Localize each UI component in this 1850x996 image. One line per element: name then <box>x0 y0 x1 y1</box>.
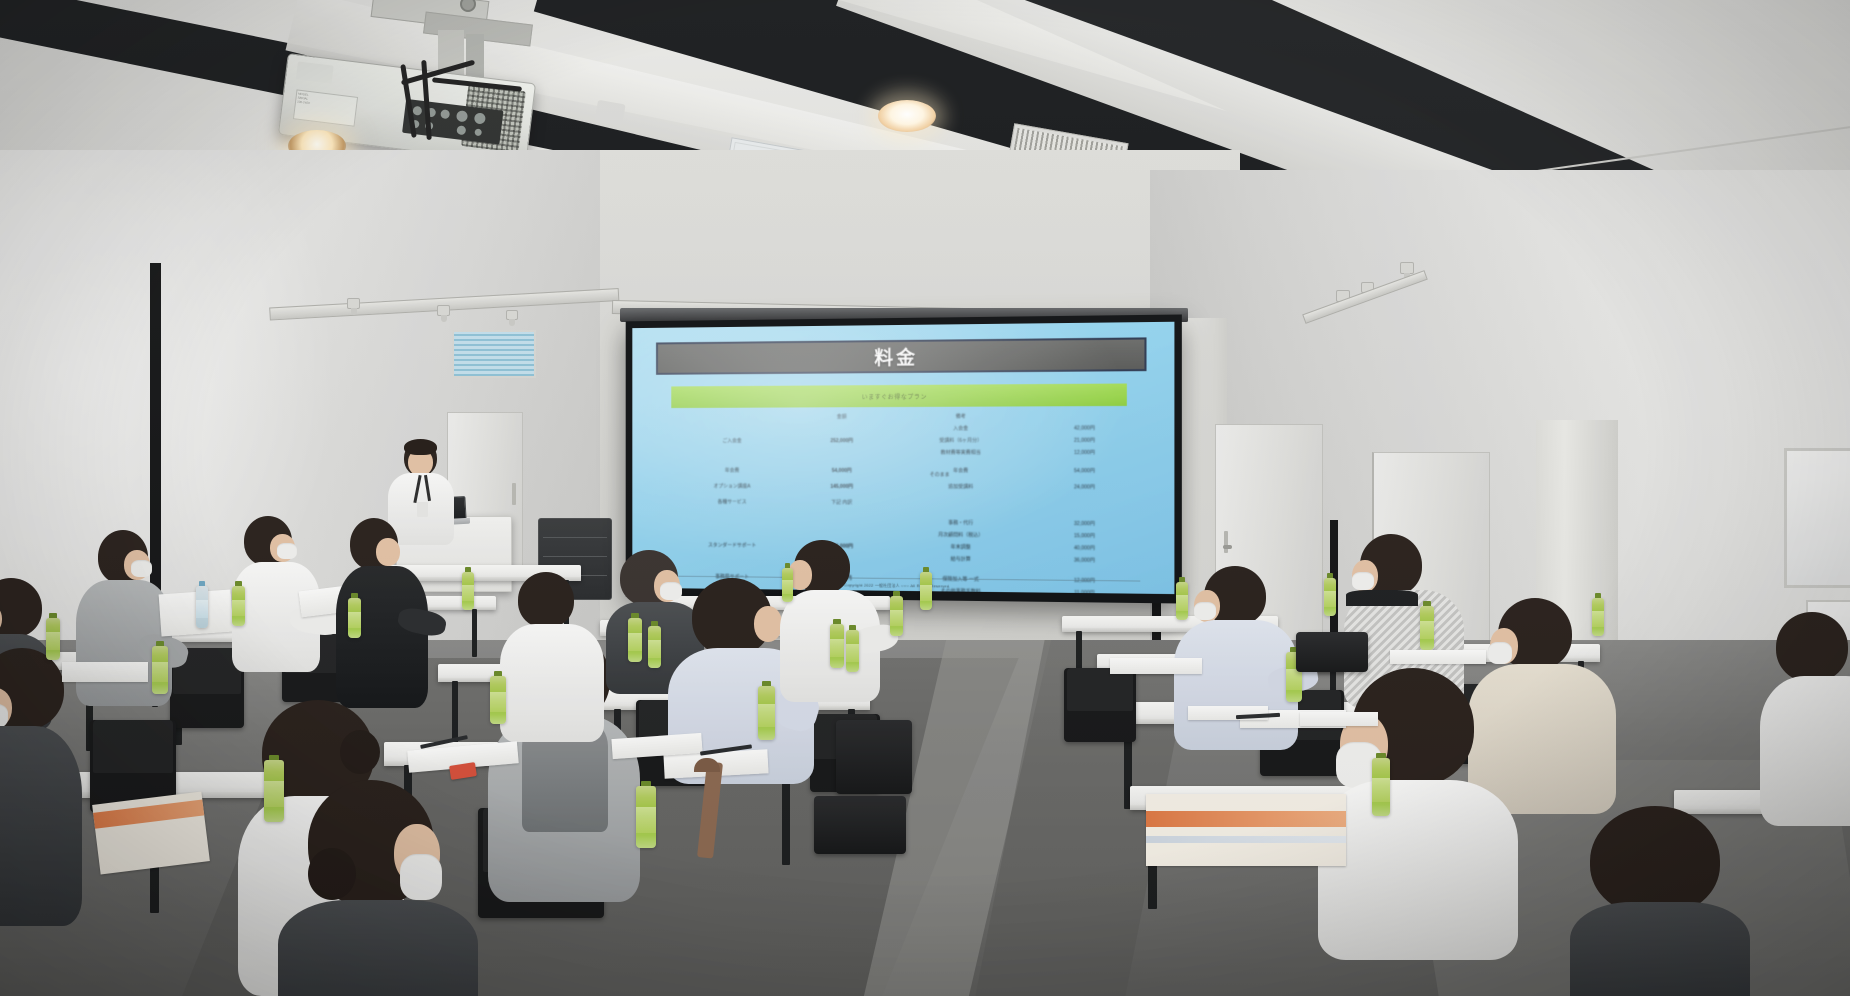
cell-sub: 42,000円 <box>1032 424 1138 431</box>
green-tea-bottle <box>846 630 859 672</box>
green-tea-bottle <box>628 618 642 662</box>
booklet <box>1146 794 1346 866</box>
wall-window-blind <box>452 330 536 378</box>
attendee-body <box>1570 902 1750 996</box>
green-tea-bottle <box>890 596 903 636</box>
face-mask <box>660 582 682 600</box>
projector-mount-arm <box>466 34 484 78</box>
presenter-badge <box>417 502 428 517</box>
green-tea-bottle <box>490 676 506 724</box>
ceiling-downlight <box>878 100 936 132</box>
projector-spec-label: MODELSERIAL100-240V <box>293 89 358 126</box>
water-bottle <box>196 586 208 628</box>
hair-bun <box>340 730 380 774</box>
track-spotlight <box>347 298 360 309</box>
track-spotlight <box>1400 262 1414 274</box>
green-tea-bottle <box>1420 606 1434 650</box>
ceiling-speaker <box>594 100 625 127</box>
face-mask <box>400 854 442 900</box>
slide-projection-glare <box>632 322 1174 594</box>
attendee-body <box>1318 780 1518 960</box>
table-leg <box>472 609 477 657</box>
cell-note: 年会費 <box>890 467 1031 474</box>
handout <box>1110 658 1202 674</box>
cell-sub: 32,000円 <box>1032 519 1138 527</box>
slide-col-note: 備考 <box>890 412 1031 420</box>
cell-note: 入会金 <box>890 424 1031 431</box>
track-spotlight <box>506 310 518 320</box>
track-spotlight <box>437 305 450 316</box>
green-tea-bottle <box>1176 582 1188 620</box>
green-tea-bottle <box>1372 758 1390 816</box>
cell-note: 受講料（6ヶ月分） <box>890 437 1031 444</box>
cell-sub: 12,000円 <box>1032 449 1138 456</box>
cell-note: 教材費等実費相当 <box>890 449 1031 456</box>
face-mask <box>1488 642 1512 664</box>
cell-note: その他事務手数料 <box>890 587 1031 595</box>
cell-note: 保険加入等 一式 <box>890 575 1031 584</box>
attendee-face <box>376 538 400 566</box>
green-tea-bottle <box>1592 598 1604 636</box>
attendee-head <box>1776 612 1848 682</box>
green-tea-bottle <box>46 618 60 660</box>
attendee-body <box>500 624 604 742</box>
handout <box>1300 712 1378 726</box>
green-tea-bottle <box>232 586 245 626</box>
green-tea-bottle <box>1324 578 1336 616</box>
face-mask <box>1194 602 1216 620</box>
cell-sub: 54,000円 <box>1032 467 1138 474</box>
cell-note: 年末調整 <box>890 543 1031 551</box>
green-tea-bottle <box>264 760 284 822</box>
seminar-room-scene: MODELSERIAL100-240V <box>0 0 1850 996</box>
cell-sub: 12,000円 <box>1032 576 1138 584</box>
green-tea-bottle <box>758 686 775 740</box>
projection-screen: 料金 いますぐお得なプラン 金額 備考 入会金 42,000円 <box>626 314 1182 603</box>
attendee-face <box>754 606 782 642</box>
bag <box>1296 632 1368 672</box>
bag <box>814 796 906 854</box>
table-leg <box>782 773 790 865</box>
projected-slide: 料金 いますぐお得なプラン 金額 備考 入会金 42,000円 <box>632 322 1174 594</box>
green-tea-bottle <box>636 786 656 848</box>
presenter-hair <box>404 439 437 455</box>
cell-note: 事務・代行 <box>890 519 1031 527</box>
cell-sub: 21,000円 <box>1032 436 1138 443</box>
cell-sub: 36,000円 <box>1032 556 1138 564</box>
slide-side-note: そのまま <box>930 471 950 478</box>
chair <box>1064 668 1136 742</box>
cell-sub: 24,000円 <box>1032 483 1138 490</box>
cell-note: 給与計算 <box>890 555 1031 563</box>
face-mask <box>131 560 152 577</box>
hair-bun <box>308 848 356 900</box>
cell-note: 月次顧問料（税込） <box>890 531 1031 539</box>
projector-lens-cover <box>296 61 334 83</box>
face-mask <box>277 543 297 559</box>
bag <box>836 720 912 794</box>
attendee-collar <box>1346 590 1418 606</box>
cell-sub: 11,000円 <box>1032 588 1138 594</box>
attendee-body <box>1760 676 1850 826</box>
booklet <box>92 792 210 875</box>
face-mask <box>1352 572 1374 590</box>
cell-note: 追加受講料 <box>890 483 1031 490</box>
right-wall-whiteboard <box>1784 448 1850 588</box>
green-tea-bottle <box>920 572 932 610</box>
attendee-head <box>518 572 574 628</box>
green-tea-bottle <box>462 572 474 610</box>
attendee-head <box>1590 806 1720 916</box>
green-tea-bottle <box>152 646 168 694</box>
green-tea-bottle <box>782 568 793 602</box>
cell-sub: 15,000円 <box>1032 532 1138 540</box>
green-tea-bottle <box>830 624 844 668</box>
green-tea-bottle <box>348 598 361 638</box>
green-tea-bottle <box>648 626 661 668</box>
handout <box>62 662 148 682</box>
attendee-body <box>0 726 82 926</box>
handout <box>1390 650 1486 664</box>
attendee-body <box>278 900 478 996</box>
wall-corner-jamb <box>150 263 161 633</box>
cell-sub: 40,000円 <box>1032 544 1138 552</box>
